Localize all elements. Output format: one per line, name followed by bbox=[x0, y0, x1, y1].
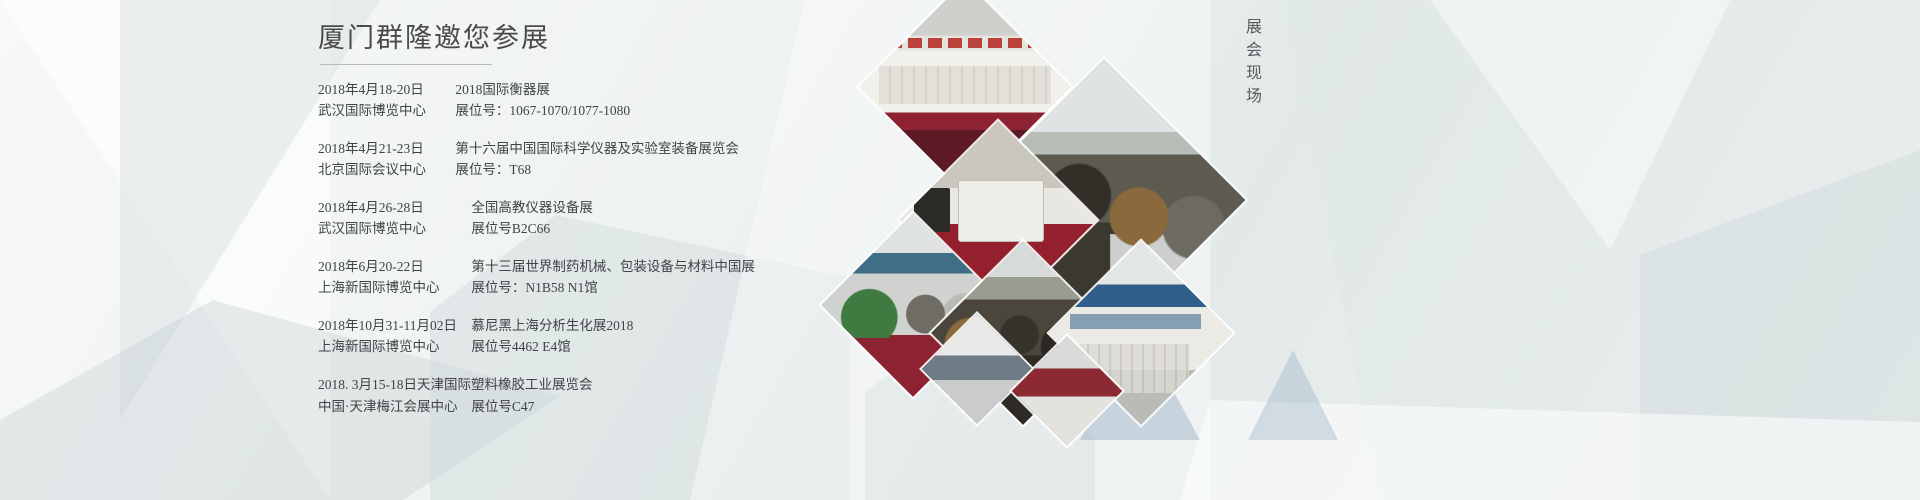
event-date: 2018年6月20-22日 bbox=[318, 256, 468, 277]
background-polygon bbox=[1180, 400, 1920, 500]
background-polygon bbox=[1280, 0, 1920, 500]
background-triangle bbox=[1248, 350, 1338, 440]
event-booth: 展位号C47 bbox=[471, 399, 534, 414]
event-date: 2018. 3月15-18日天津国际塑料橡胶工业展览会 bbox=[318, 377, 593, 392]
photo-collage bbox=[838, 0, 1258, 420]
event-venue: 上海新国际博览中心 bbox=[318, 277, 468, 298]
event-venue: 中国·天津梅江会展中心 bbox=[318, 396, 468, 418]
title-divider bbox=[320, 64, 492, 65]
event-date: 2018年10月31-11月02日 bbox=[318, 315, 468, 336]
event-venue: 武汉国际博览中心 bbox=[318, 218, 468, 239]
event-date: 2018年4月26-28日 bbox=[318, 197, 468, 218]
event-date: 2018年4月21-23日 bbox=[318, 138, 452, 159]
event-name: 第十三届世界制药机械、包装设备与材料中国展 bbox=[471, 259, 755, 274]
background-polygon bbox=[0, 0, 330, 500]
event-name: 全国高教仪器设备展 bbox=[471, 200, 593, 215]
promo-banner: 厦门群隆邀您参展 2018年4月18-20日 2018国际衡器展 武汉国际博览中… bbox=[0, 0, 1920, 500]
event-booth: 展位号：T68 bbox=[455, 162, 531, 177]
event-venue: 北京国际会议中心 bbox=[318, 159, 452, 180]
event-booth: 展位号4462 E4馆 bbox=[471, 339, 570, 354]
event-booth: 展位号：1067-1070/1077-1080 bbox=[455, 103, 630, 118]
event-venue: 武汉国际博览中心 bbox=[318, 100, 452, 121]
event-date: 2018年4月18-20日 bbox=[318, 79, 452, 100]
event-booth: 展位号B2C66 bbox=[471, 221, 550, 236]
event-venue: 上海新国际博览中心 bbox=[318, 336, 468, 357]
event-name: 第十六届中国国际科学仪器及实验室装备展览会 bbox=[455, 141, 739, 156]
event-name: 慕尼黑上海分析生化展2018 bbox=[471, 318, 633, 333]
event-name: 2018国际衡器展 bbox=[455, 82, 550, 97]
background-polygon bbox=[1640, 150, 1920, 500]
event-booth: 展位号：N1B58 N1馆 bbox=[471, 280, 597, 295]
background-polygon bbox=[1430, 0, 1730, 250]
